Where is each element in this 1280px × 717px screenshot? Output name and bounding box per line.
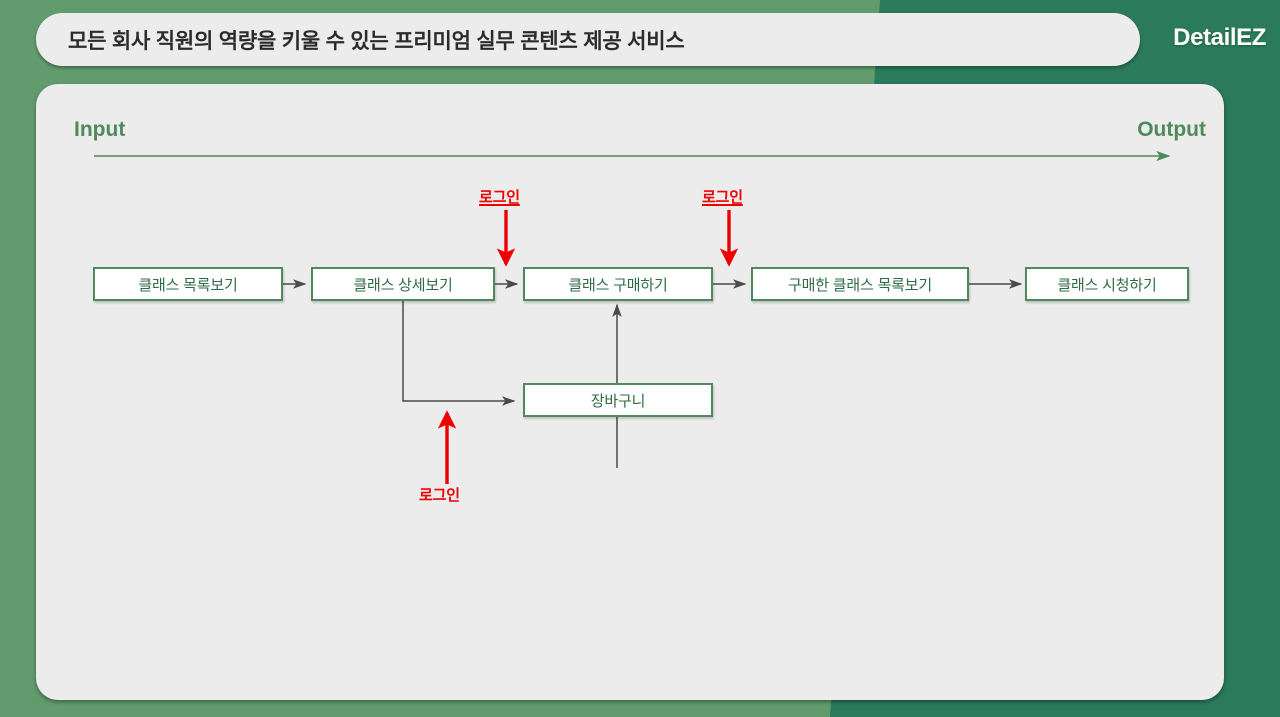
diagram-canvas: Input Output <box>36 84 1224 700</box>
brand-logo: DetailEZ <box>1173 24 1266 52</box>
title-bar: 모든 회사 직원의 역량을 키울 수 있는 프리미엄 실무 콘텐츠 제공 서비스 <box>36 13 1140 66</box>
page-title: 모든 회사 직원의 역량을 키울 수 있는 프리미엄 실무 콘텐츠 제공 서비스 <box>68 25 684 55</box>
node-label: 구매한 클래스 목록보기 <box>788 274 932 295</box>
node-purchased-class-list[interactable]: 구매한 클래스 목록보기 <box>751 267 969 301</box>
node-label: 장바구니 <box>591 390 645 411</box>
annotation-login-purchased-list: 로그인 <box>702 186 743 207</box>
node-label: 클래스 시청하기 <box>1057 274 1156 295</box>
node-class-detail[interactable]: 클래스 상세보기 <box>311 267 495 301</box>
node-class-purchase[interactable]: 클래스 구매하기 <box>523 267 713 301</box>
node-cart[interactable]: 장바구니 <box>523 383 713 417</box>
node-label: 클래스 목록보기 <box>138 274 237 295</box>
annotation-login-cart: 로그인 <box>419 484 460 505</box>
node-label: 클래스 구매하기 <box>568 274 667 295</box>
annotation-login-purchase: 로그인 <box>479 186 520 207</box>
node-class-list[interactable]: 클래스 목록보기 <box>93 267 283 301</box>
node-class-watch[interactable]: 클래스 시청하기 <box>1025 267 1189 301</box>
slide-root: 모든 회사 직원의 역량을 키울 수 있는 프리미엄 실무 콘텐츠 제공 서비스… <box>0 0 1280 717</box>
node-label: 클래스 상세보기 <box>353 274 452 295</box>
